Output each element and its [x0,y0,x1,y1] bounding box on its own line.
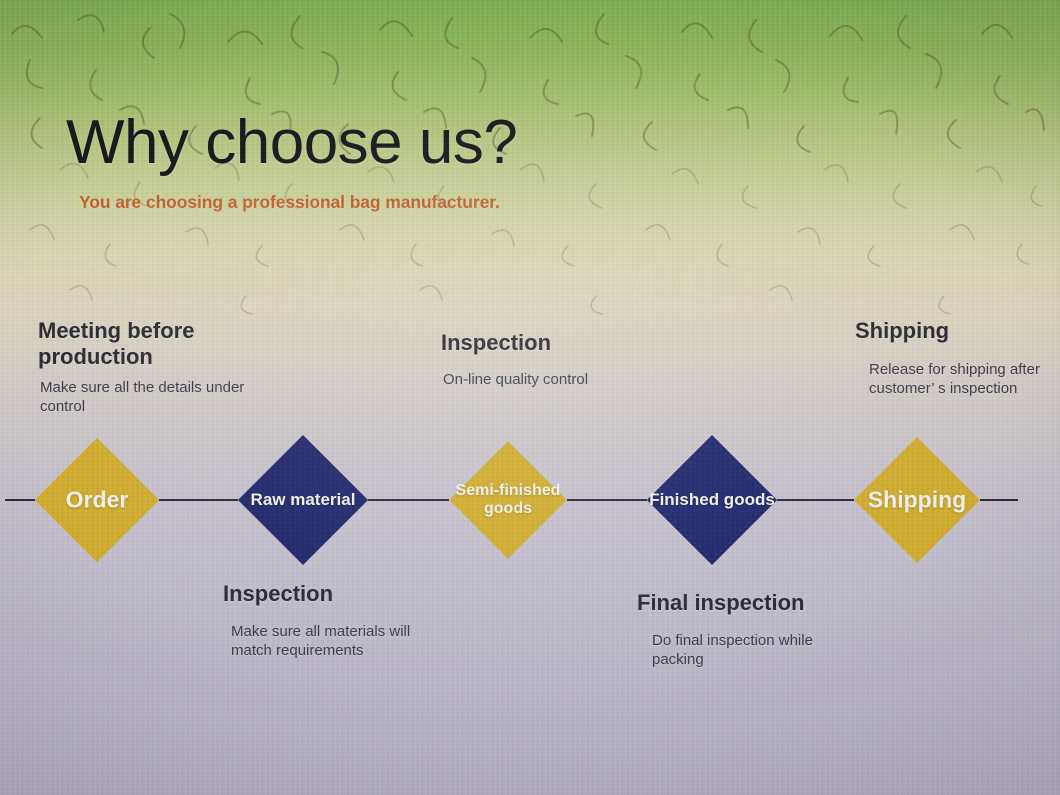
slide-subtitle: You are choosing a professional bag manu… [79,192,500,213]
annotation-heading-final-inspection: Final inspection [637,590,877,616]
flow-node-semi-finished[interactable] [449,441,566,558]
annotation-body-inspection-materials: Make sure all materials will match requi… [231,622,451,660]
annotation-heading-inspection-online: Inspection [441,330,671,356]
flow-connector-line-6 [980,499,1018,501]
annotation-body-inspection-online: On-line quality control [443,370,683,389]
annotation-body-shipping-release: Release for shipping after customer’ s i… [869,360,1057,398]
process-flow-chain: OrderRaw materialSemi-finished goodsFini… [0,420,1060,585]
flow-node-raw-material[interactable] [238,435,368,565]
annotation-body-final-inspection: Do final inspection while packing [652,631,867,669]
flow-node-order[interactable] [35,438,159,562]
flow-connector-line-1 [5,499,35,501]
annotation-heading-shipping-release: Shipping [855,318,1055,344]
annotation-heading-meeting-before-production: Meeting before production [38,318,248,369]
flow-connector-line-3 [368,499,449,501]
flow-connector-line-4 [567,499,647,501]
annotation-body-meeting-before-production: Make sure all the details under control [40,378,250,416]
slide-title: Why choose us? [66,112,517,174]
flow-node-finished-goods[interactable] [647,435,777,565]
flow-node-shipping[interactable] [854,437,980,563]
slide-canvas: Why choose us? You are choosing a profes… [0,0,1060,795]
flow-connector-line-5 [777,499,854,501]
flow-connector-line-2 [159,499,238,501]
